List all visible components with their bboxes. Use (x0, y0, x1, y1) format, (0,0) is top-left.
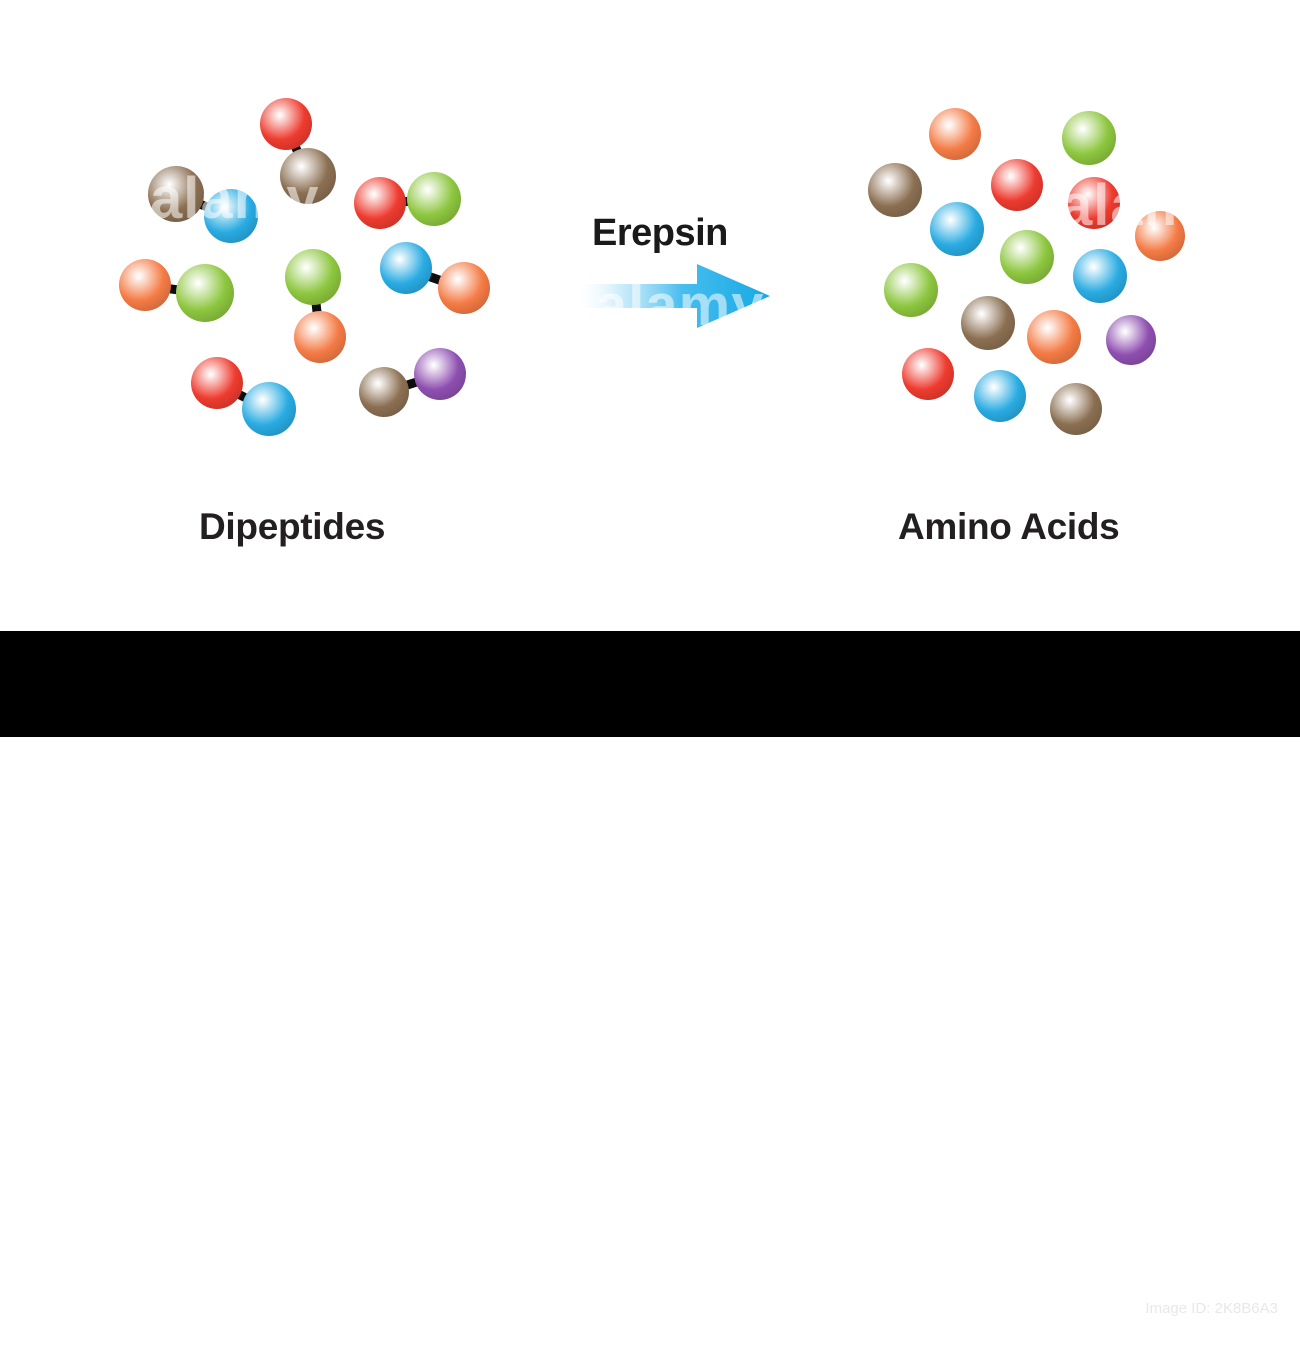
dipeptide-2-atom-b (204, 189, 258, 243)
dipeptide-3-atom-a (354, 177, 406, 229)
label-dipeptides: Dipeptides (199, 506, 385, 548)
amino-acid-aa-3 (868, 163, 922, 217)
dipeptide-3-atom-b (407, 172, 461, 226)
dipeptide-6-atom-b (438, 262, 490, 314)
dipeptide-1-atom-a (260, 98, 312, 150)
amino-acid-aa-13 (1106, 315, 1156, 365)
enzyme-label: Erepsin (592, 212, 728, 255)
stock-footer: alamy Image ID: 2K8B6A3 www.alamy.com (0, 631, 1300, 737)
diagram-canvas: Erepsin Dipeptides Amino Acids alamyalam… (0, 0, 1300, 631)
dipeptide-5-atom-a (285, 249, 341, 305)
footer-meta: Image ID: 2K8B6A3 www.alamy.com (1140, 1299, 1278, 1344)
dipeptide-8-atom-a (359, 367, 409, 417)
label-amino-acids: Amino Acids (898, 506, 1119, 548)
alamy-logo: alamy (52, 1309, 195, 1363)
amino-acid-aa-2 (1062, 111, 1116, 165)
dipeptide-7-atom-a (191, 357, 243, 409)
amino-acid-aa-8 (1000, 230, 1054, 284)
image-id-text: Image ID: 2K8B6A3 (1140, 1299, 1278, 1319)
amino-acid-aa-6 (930, 202, 984, 256)
dipeptide-4-atom-a (119, 259, 171, 311)
dipeptide-6-atom-a (380, 242, 432, 294)
amino-acid-aa-4 (991, 159, 1043, 211)
amino-acid-aa-12 (1027, 310, 1081, 364)
dipeptide-7-atom-b (242, 382, 296, 436)
amino-acid-aa-15 (974, 370, 1026, 422)
alamy-website-text: www.alamy.com (1140, 1319, 1278, 1343)
dipeptide-2-atom-a (148, 166, 204, 222)
amino-acid-aa-1 (929, 108, 981, 160)
dipeptide-1-atom-b (280, 148, 336, 204)
dipeptide-5-atom-b (294, 311, 346, 363)
amino-acid-aa-7 (1135, 211, 1185, 261)
amino-acid-aa-14 (902, 348, 954, 400)
dipeptide-8-atom-b (414, 348, 466, 400)
amino-acid-aa-11 (961, 296, 1015, 350)
dipeptide-4-atom-b (176, 264, 234, 322)
amino-acid-aa-16 (1050, 383, 1102, 435)
reaction-arrow (575, 262, 770, 330)
amino-acid-aa-5 (1068, 177, 1120, 229)
amino-acid-aa-10 (884, 263, 938, 317)
amino-acid-aa-9 (1073, 249, 1127, 303)
